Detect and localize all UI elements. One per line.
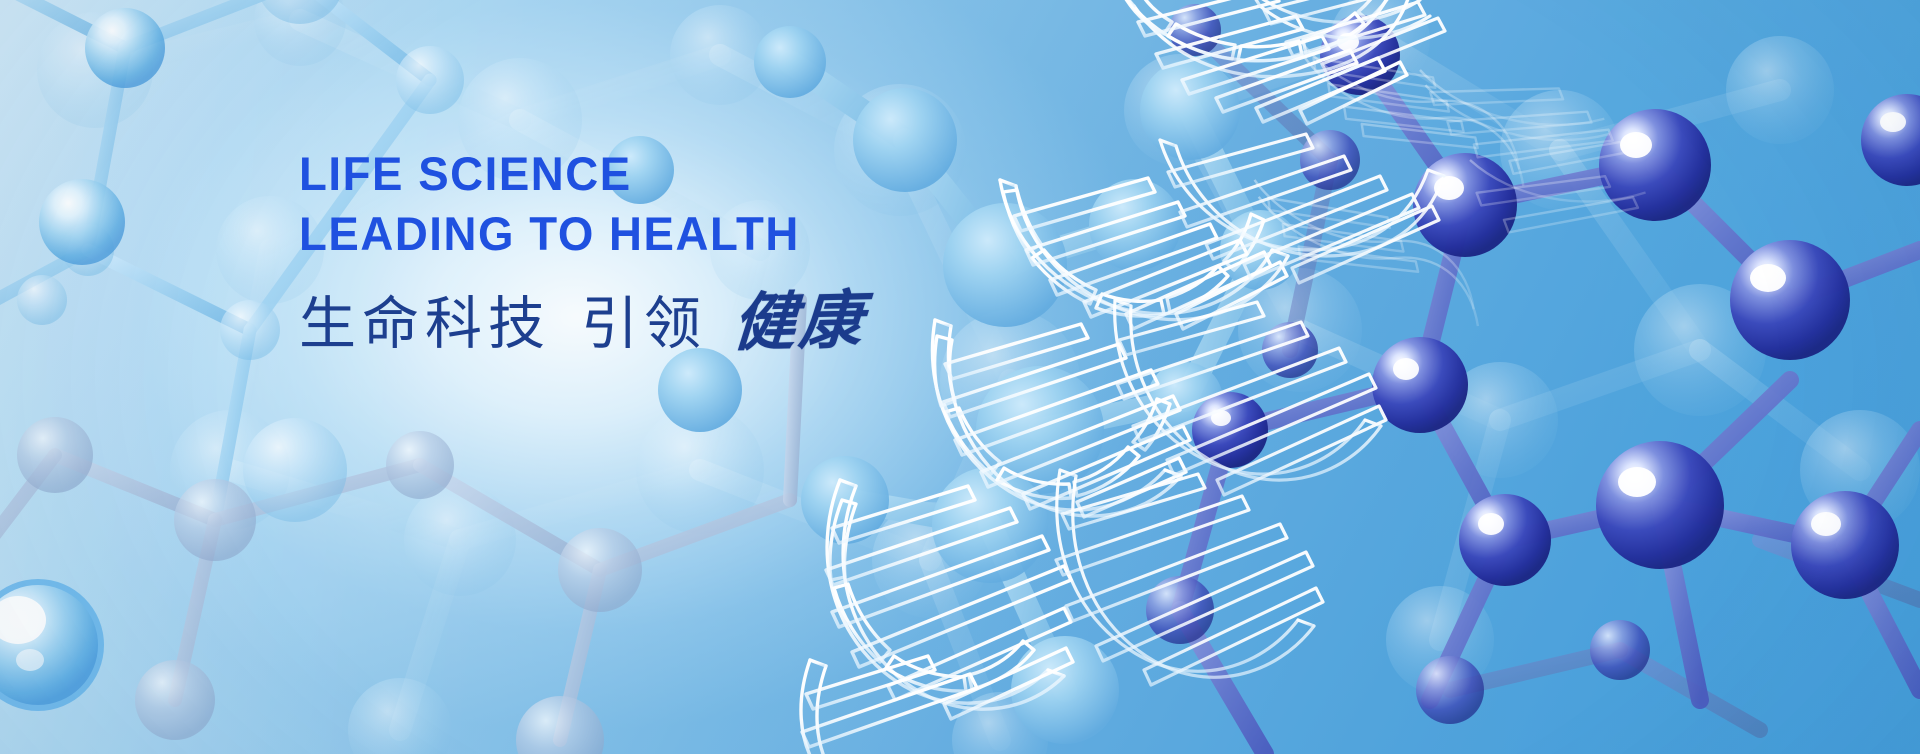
background-vignette — [0, 0, 1920, 754]
banner-text-block: LIFE SCIENCE LEADING TO HEALTH 生命科技 引领 健… — [299, 146, 865, 355]
subheadline-middle: 引领 — [581, 293, 707, 355]
subheadline-brush: 健康 — [731, 288, 867, 353]
headline-line-1: LIFE SCIENCE — [299, 146, 848, 202]
subheadline-main: 生命科技 — [299, 293, 551, 355]
headline-line-2: LEADING TO HEALTH — [299, 206, 848, 262]
life-science-banner: LIFE SCIENCE LEADING TO HEALTH 生命科技 引领 健… — [0, 0, 1920, 754]
subheadline-chinese: 生命科技 引领 健康 — [299, 290, 865, 355]
